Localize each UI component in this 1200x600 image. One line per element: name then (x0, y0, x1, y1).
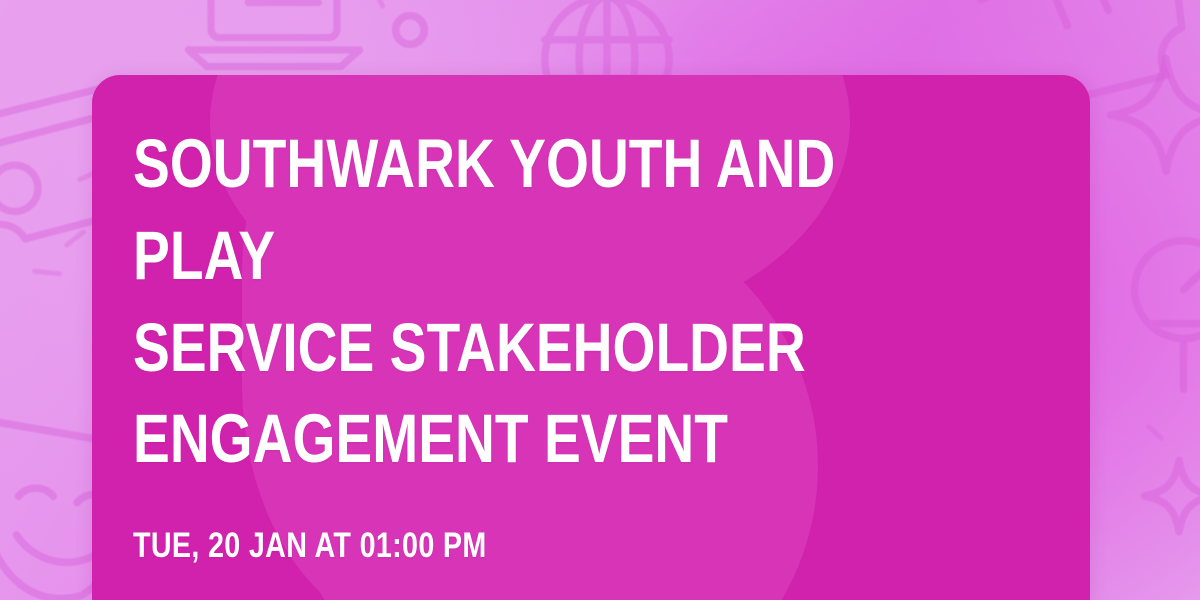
event-date: Tue, 20 Jan at 01:00 PM (133, 527, 869, 566)
event-card[interactable]: Southwark Youth and Play Service Stakeho… (92, 75, 1090, 600)
confetti-icon (372, 0, 386, 9)
confetti-icon (1145, 423, 1165, 441)
ring-icon (388, 8, 432, 52)
confetti-icon (63, 229, 87, 249)
balloon-icon (1128, 230, 1200, 398)
card-content: Southwark Youth and Play Service Stakeho… (92, 75, 1090, 566)
sparkle-icon (1104, 52, 1200, 178)
sparkle-small-icon (1138, 454, 1200, 538)
event-title: Southwark Youth and Play Service Stakeho… (133, 118, 851, 485)
event-poster: Southwark Youth and Play Service Stakeho… (0, 0, 1200, 600)
confetti-icon (32, 268, 62, 276)
